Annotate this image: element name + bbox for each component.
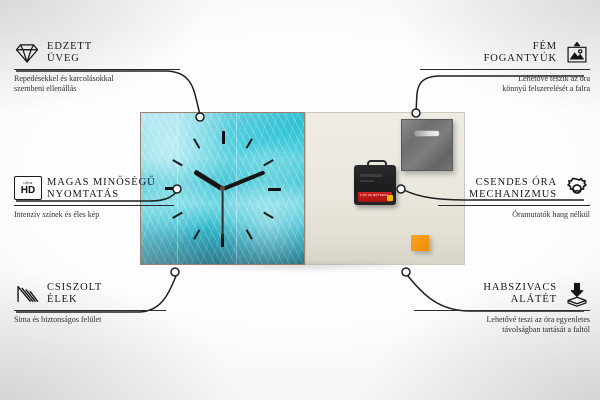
divider (14, 310, 166, 311)
feature-title-line2: ÜVEG (47, 53, 80, 64)
feature-title: EDZETTÜVEG (47, 41, 92, 66)
ultra-hd-icon-top-text: ultra (23, 181, 32, 185)
feature-header: CSENDES ÓRAMECHANIZMUS (390, 176, 590, 202)
ultra-hd-icon: ultra HD (14, 176, 40, 202)
feature-title-line2: ÉLEK (47, 294, 77, 305)
hanger-slot (414, 130, 440, 137)
feature-title-line1: EDZETT (47, 41, 92, 52)
feature-header: FÉMFOGANTYÚK (390, 40, 590, 66)
feature-header: EDZETTÜVEG (14, 40, 204, 66)
feature-title: HABSZIVACSALÁTÉT (483, 282, 557, 307)
feature-title: MAGAS MINŐSÉGŰNYOMTATÁS (47, 177, 156, 202)
infographic-canvas: 1.5V AA BATTERY (0, 0, 600, 400)
feature-title-line1: HABSZIVACS (483, 282, 557, 293)
feature-title: CSISZOLTÉLEK (47, 282, 102, 307)
feature-foam-backing[interactable]: HABSZIVACSALÁTÉT Lehetővé teszi az óra e… (390, 281, 590, 335)
polished-edge-icon (14, 281, 40, 307)
divider (14, 205, 174, 206)
feature-metal-handles[interactable]: FÉMFOGANTYÚK Lehetővé teszik az óra könn… (390, 40, 590, 94)
feature-description: Lehetővé teszi az óra egyenletes távolsá… (390, 315, 590, 335)
feature-silent-mechanism[interactable]: CSENDES ÓRAMECHANIZMUS Óramutatók hang n… (390, 176, 590, 220)
feature-title-line1: CSENDES ÓRA (476, 177, 557, 188)
divider (14, 69, 180, 70)
divider (420, 69, 590, 70)
clock-tick-12 (222, 131, 224, 189)
feature-description: Lehetővé teszik az óra könnyű felszerelé… (390, 74, 590, 94)
mechanism-detail (360, 180, 374, 182)
diamond-icon (14, 40, 40, 66)
metal-hanger-plate (401, 119, 453, 171)
feature-high-quality-print[interactable]: ultra HD MAGAS MINŐSÉGŰNYOMTATÁS Intenzí… (14, 176, 204, 220)
clock-second-hand (222, 189, 224, 239)
feature-title: CSENDES ÓRAMECHANIZMUS (469, 177, 557, 202)
feature-description: Óramutatók hang nélkül (390, 210, 590, 220)
feature-title-line2: MECHANIZMUS (469, 189, 557, 200)
divider (414, 310, 590, 311)
feature-title-line1: CSISZOLT (47, 282, 102, 293)
product-shadow (144, 264, 462, 274)
feature-tempered-glass[interactable]: EDZETTÜVEG Repedésekkel és karcolásokkal… (14, 40, 204, 94)
clock-center-cap (220, 186, 225, 191)
feature-title-line1: MAGAS MINŐSÉGŰ (47, 177, 156, 188)
ultra-hd-icon-main-text: HD (21, 186, 35, 196)
feature-title-line2: FOGANTYÚK (484, 53, 557, 64)
mechanism-handle (367, 160, 387, 169)
feature-description: Intenzív színek és éles kép (14, 210, 204, 220)
feature-title-line2: ALÁTÉT (511, 294, 557, 305)
feature-header: CSISZOLTÉLEK (14, 281, 204, 307)
feature-header: ultra HD MAGAS MINŐSÉGŰNYOMTATÁS (14, 176, 204, 202)
press-pad-icon (564, 281, 590, 307)
feature-title-line1: FÉM (533, 41, 557, 52)
mechanism-detail (360, 174, 382, 177)
picture-hanger-icon (564, 40, 590, 66)
feature-description: Sima és biztonságos felület (14, 315, 204, 325)
feature-description: Repedésekkel és karcolásokkal szembeni e… (14, 74, 204, 94)
gear-icon (564, 176, 590, 202)
feature-header: HABSZIVACSALÁTÉT (390, 281, 590, 307)
feature-title: FÉMFOGANTYÚK (484, 41, 557, 66)
feature-polished-edges[interactable]: CSISZOLTÉLEK Sima és biztonságos felület (14, 281, 204, 325)
foam-spacer-pad (411, 235, 429, 251)
divider (438, 205, 590, 206)
feature-title-line2: NYOMTATÁS (47, 189, 119, 200)
